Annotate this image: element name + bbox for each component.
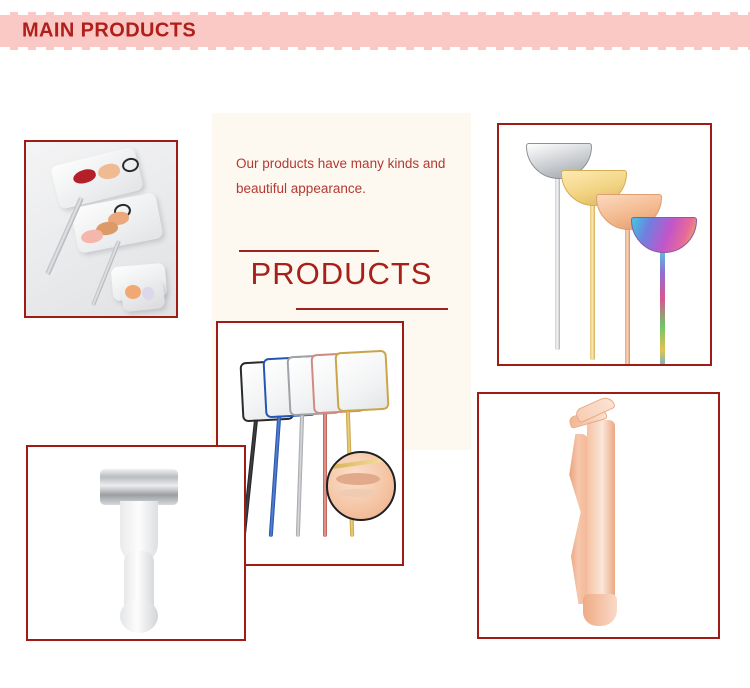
fan-spatulas-photo — [499, 125, 710, 364]
inset-tool-edge — [332, 457, 390, 469]
product-image-makeup-palettes[interactable] — [24, 140, 178, 318]
fan-head-rainbow — [631, 217, 697, 253]
product-image-lash-tweezers[interactable] — [477, 392, 720, 639]
products-heading-block: PRODUCTS — [212, 238, 471, 318]
fan-handle-rainbow — [660, 249, 665, 364]
palettes-photo — [26, 142, 176, 316]
tweezer-base — [583, 594, 617, 626]
main-products-banner: MAIN PRODUCTS — [0, 12, 750, 50]
intro-paragraph: Our products have many kinds and beautif… — [236, 151, 450, 201]
fan-handle-rose-gold — [625, 226, 630, 364]
tweezer-straight-arm — [587, 420, 615, 616]
face-roller-photo — [28, 447, 244, 639]
banner-dashed-line-bottom — [0, 47, 750, 50]
fan-handle-silver — [555, 175, 560, 350]
application-detail-inset — [326, 451, 396, 521]
products-heading: PRODUCTS — [212, 256, 471, 292]
product-showcase-page: MAIN PRODUCTS Our products have many kin… — [0, 0, 750, 688]
page-title: MAIN PRODUCTS — [22, 20, 196, 43]
paddle-head-gold — [334, 350, 389, 413]
tweezer-curved-arm — [567, 434, 589, 604]
roller-handle-end — [120, 599, 158, 633]
paddle-handle-blue — [269, 415, 282, 537]
inset-eyelid-illustration — [336, 473, 380, 485]
heading-rule-top — [239, 250, 379, 252]
product-image-fan-spatula-set[interactable] — [497, 123, 712, 366]
product-image-face-roller[interactable] — [26, 445, 246, 641]
paddle-handle-silver — [296, 413, 304, 537]
fan-handle-gold — [590, 202, 595, 360]
paddle-handle-rose-gold — [323, 411, 327, 537]
banner-dashed-line-top — [0, 12, 750, 15]
roller-metal-head — [100, 469, 178, 505]
lash-tweezers-photo — [479, 394, 718, 637]
color-swatch-orange — [125, 285, 141, 299]
heading-rule-bottom — [296, 308, 448, 310]
color-swatch-lilac — [142, 287, 154, 300]
